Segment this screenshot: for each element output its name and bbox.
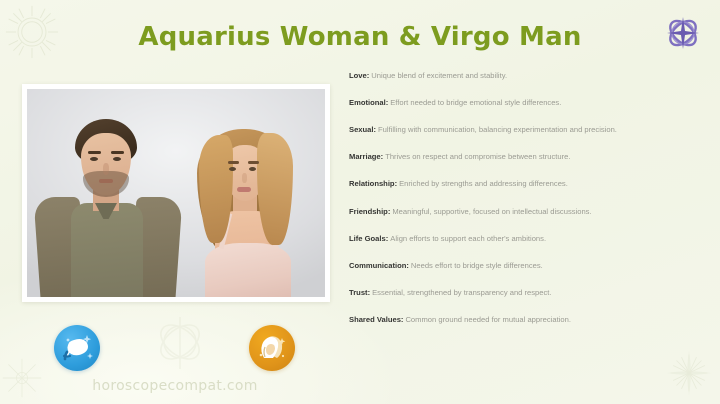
trait-text: Enriched by strengths and addressing dif… — [399, 179, 568, 188]
atom-petal-watermark-icon — [143, 311, 217, 373]
trait-row: Trust:Essential, strengthened by transpa… — [349, 289, 709, 298]
trait-row: Emotional:Effort needed to bridge emotio… — [349, 99, 709, 108]
trait-label: Love: — [349, 71, 369, 80]
infographic-canvas: Aquarius Woman & Virgo Man — [0, 0, 720, 404]
trait-text: Thrives on respect and compromise betwee… — [385, 152, 570, 161]
couple-photo — [22, 84, 330, 302]
trait-row: Sexual:Fulfilling with communication, ba… — [349, 126, 709, 135]
trait-text: Common ground needed for mutual apprecia… — [405, 315, 570, 324]
trait-text: Effort needed to bridge emotional style … — [390, 98, 561, 107]
photo-person-woman — [175, 125, 320, 297]
trait-label: Sexual: — [349, 125, 376, 134]
page-title: Aquarius Woman & Virgo Man — [0, 22, 720, 52]
trait-label: Life Goals: — [349, 234, 388, 243]
trait-row: Life Goals:Align efforts to support each… — [349, 235, 709, 244]
trait-text: Needs effort to bridge style differences… — [411, 261, 543, 270]
trait-label: Emotional: — [349, 98, 388, 107]
trait-text: Align efforts to support each other's am… — [390, 234, 546, 243]
trait-row: Relationship:Enriched by strengths and a… — [349, 180, 709, 189]
trait-row: Communication:Needs effort to bridge sty… — [349, 262, 709, 271]
trait-text: Fulfilling with communication, balancing… — [378, 125, 617, 134]
zodiac-badge-virgo — [249, 325, 295, 371]
photo-person-man — [41, 117, 181, 297]
trait-label: Friendship: — [349, 207, 390, 216]
trait-text: Essential, strengthened by transparency … — [372, 288, 551, 297]
zodiac-badge-aquarius — [54, 325, 100, 371]
virgo-maiden-icon — [249, 325, 295, 371]
trait-row: Shared Values:Common ground needed for m… — [349, 316, 709, 325]
trait-label: Communication: — [349, 261, 409, 270]
traits-list: Love:Unique blend of excitement and stab… — [349, 72, 709, 343]
website-url: horoscopecompat.com — [30, 378, 320, 394]
trait-label: Marriage: — [349, 152, 383, 161]
trait-label: Trust: — [349, 288, 370, 297]
trait-row: Marriage:Thrives on respect and compromi… — [349, 153, 709, 162]
trait-label: Shared Values: — [349, 315, 403, 324]
trait-row: Love:Unique blend of excitement and stab… — [349, 72, 709, 81]
trait-text: Meaningful, supportive, focused on intel… — [392, 207, 591, 216]
trait-row: Friendship:Meaningful, supportive, focus… — [349, 208, 709, 217]
aquarius-water-bearer-icon — [54, 325, 100, 371]
trait-label: Relationship: — [349, 179, 397, 188]
starburst-watermark-icon — [664, 348, 714, 398]
trait-text: Unique blend of excitement and stability… — [371, 71, 507, 80]
